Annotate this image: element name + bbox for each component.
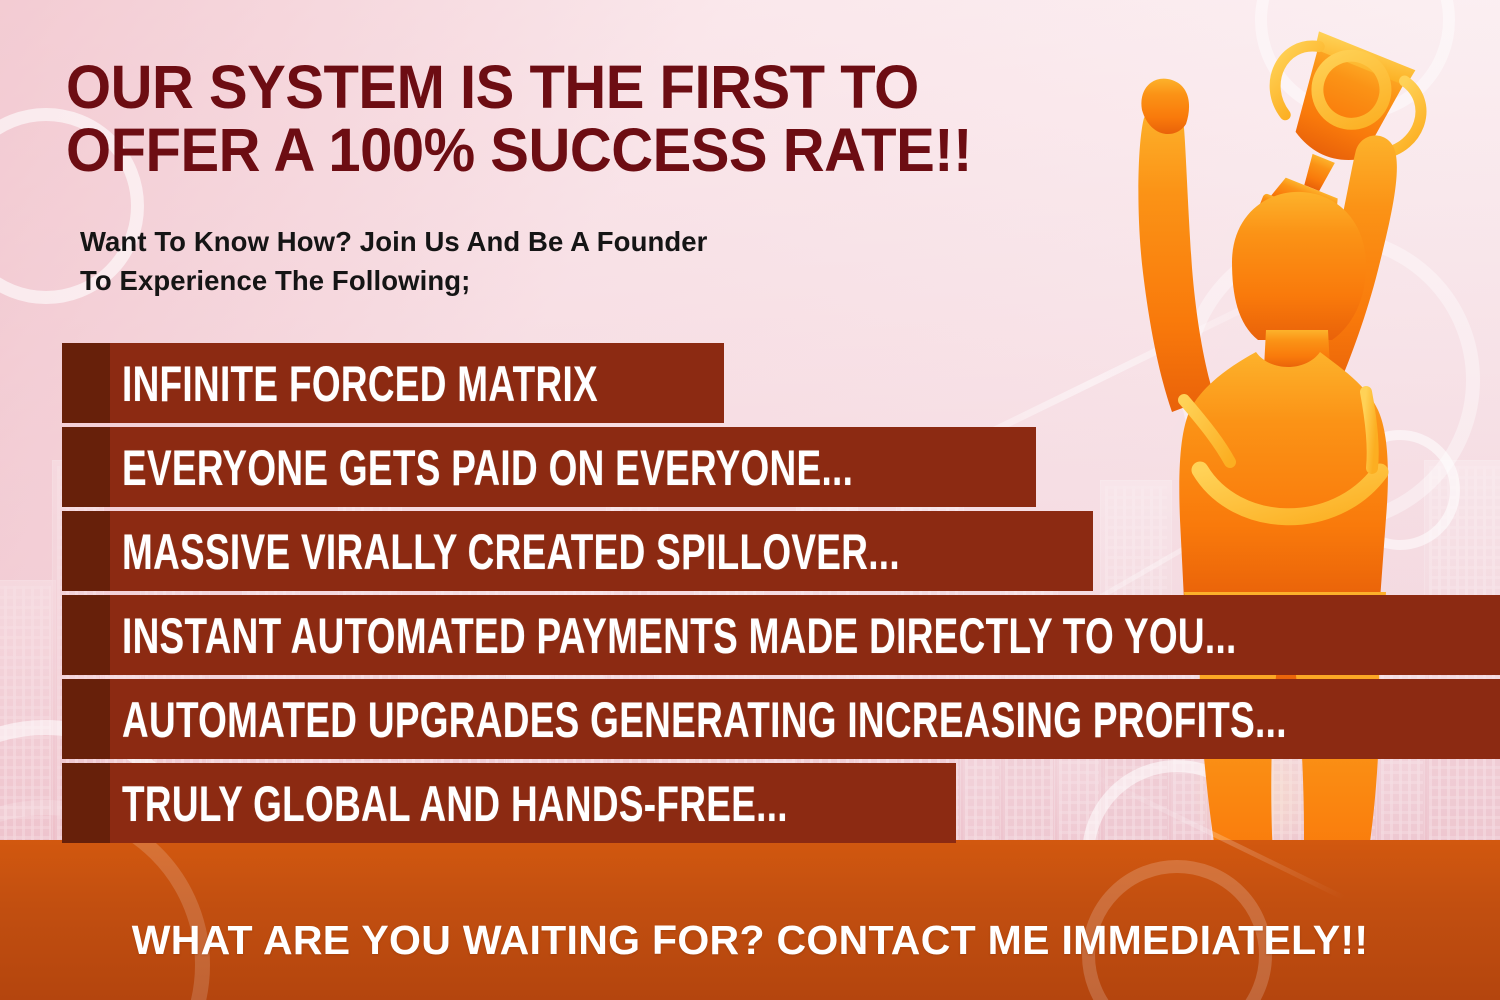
call-to-action-text: WHAT ARE YOU WAITING FOR? CONTACT ME IMM… (0, 917, 1500, 964)
bullet-bar: MASSIVE VIRALLY CREATED SPILLOVER... (110, 511, 1093, 591)
bullet-label: INFINITE FORCED MATRIX (122, 358, 598, 408)
list-item: INFINITE FORCED MATRIX (62, 343, 724, 423)
bullet-label: AUTOMATED UPGRADES GENERATING INCREASING… (122, 694, 1287, 744)
list-item: TRULY GLOBAL AND HANDS-FREE... (62, 763, 956, 843)
subtitle: Want To Know How? Join Us And Be A Found… (80, 222, 707, 300)
bullet-label: EVERYONE GETS PAID ON EVERYONE... (122, 442, 853, 492)
bullet-label: TRULY GLOBAL AND HANDS-FREE... (122, 778, 788, 828)
benefits-list: INFINITE FORCED MATRIX EVERYONE GETS PAI… (62, 343, 1500, 847)
page-title: OUR SYSTEM IS THE FIRST TO OFFER A 100% … (66, 56, 1073, 182)
bullet-accent-tab (62, 763, 110, 843)
bullet-accent-tab (62, 511, 110, 591)
bullet-bar: EVERYONE GETS PAID ON EVERYONE... (110, 427, 1036, 507)
bullet-bar: TRULY GLOBAL AND HANDS-FREE... (110, 763, 956, 843)
list-item: MASSIVE VIRALLY CREATED SPILLOVER... (62, 511, 1093, 591)
bullet-label: MASSIVE VIRALLY CREATED SPILLOVER... (122, 526, 900, 576)
bullet-label: INSTANT AUTOMATED PAYMENTS MADE DIRECTLY… (122, 610, 1237, 660)
bullet-bar: INFINITE FORCED MATRIX (110, 343, 724, 423)
bullet-accent-tab (62, 427, 110, 507)
promotional-banner: OUR SYSTEM IS THE FIRST TO OFFER A 100% … (0, 0, 1500, 1000)
bullet-accent-tab (62, 679, 110, 759)
bullet-bar: INSTANT AUTOMATED PAYMENTS MADE DIRECTLY… (110, 595, 1500, 675)
list-item: AUTOMATED UPGRADES GENERATING INCREASING… (62, 679, 1500, 759)
bullet-accent-tab (62, 343, 110, 423)
list-item: INSTANT AUTOMATED PAYMENTS MADE DIRECTLY… (62, 595, 1500, 675)
list-item: EVERYONE GETS PAID ON EVERYONE... (62, 427, 1036, 507)
bullet-accent-tab (62, 595, 110, 675)
head (1232, 192, 1366, 340)
bullet-bar: AUTOMATED UPGRADES GENERATING INCREASING… (110, 679, 1500, 759)
